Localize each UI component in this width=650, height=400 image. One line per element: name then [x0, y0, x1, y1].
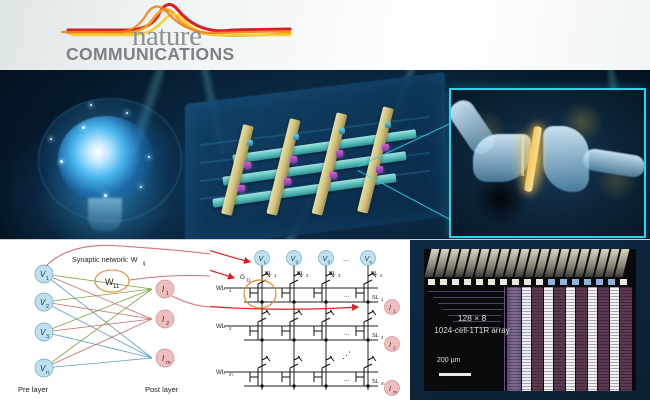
svg-text:n: n [46, 370, 49, 376]
network-caption: Synaptic network: W [72, 255, 138, 264]
svg-text:2: 2 [381, 335, 384, 340]
svg-text:1: 1 [46, 276, 49, 282]
neural-network-panel: W 11 Synaptic network: W ij V 1 V 2 V 3 … [0, 240, 210, 400]
nature-communications-logo[interactable]: nature COMMUNICATIONS [32, 2, 292, 68]
svg-text:3: 3 [46, 334, 49, 340]
svg-text:1: 1 [166, 291, 169, 297]
svg-text:2: 2 [296, 260, 299, 266]
output-arrow-1 [210, 306, 358, 309]
post-node-m: I m [156, 349, 174, 367]
wl-label-2: WL [216, 323, 226, 330]
svg-text:3: 3 [338, 273, 341, 278]
crossbar-i-node-2: I 2 [385, 337, 400, 352]
feedback-curve-out [172, 296, 210, 307]
chip-photo: 128 × 8 1024-cell-1T1R array 200 μm [424, 249, 636, 391]
svg-text:1: 1 [229, 288, 232, 293]
post-node-2: I 2 [156, 310, 174, 328]
synapse-inset [449, 88, 646, 238]
g11-highlight-circle [244, 280, 276, 308]
pre-node-3: V 3 [35, 323, 53, 341]
svg-text:m: m [229, 372, 233, 377]
network-caption-sub: ij [143, 261, 145, 267]
bl-label-1: BL [265, 271, 272, 277]
brain-illustration [30, 90, 200, 230]
scale-bar-label: 200 μm [437, 357, 461, 364]
array-desc-label: 1024-cell-1T1R array [424, 326, 578, 335]
crossbar-v-node-2: V 2 [287, 251, 302, 266]
svg-text:m: m [393, 391, 397, 396]
scale-bar [439, 373, 471, 376]
conductance-sub: 11 [246, 278, 251, 283]
conductance-label: G [240, 274, 245, 281]
input-arrow-2 [210, 268, 234, 278]
svg-text:1: 1 [274, 273, 277, 278]
svg-text:1: 1 [393, 309, 396, 315]
svg-text:2: 2 [166, 321, 169, 327]
pre-layer-label: Pre layer [18, 385, 49, 394]
post-node-1: I 1 [156, 280, 174, 298]
journal-cover-figure: nature COMMUNICATIONS [0, 0, 650, 400]
bl-label-n: BL [371, 271, 378, 277]
svg-text:I: I [389, 386, 391, 393]
bl-label-3: BL [329, 271, 336, 277]
weight-sub: 11 [113, 284, 120, 290]
svg-text:n: n [370, 261, 373, 266]
svg-text:m: m [381, 381, 385, 386]
wl-label-m: WL [216, 369, 226, 376]
bl-label-2: BL [297, 271, 304, 277]
row-ellipsis-2: ... [344, 330, 350, 337]
svg-text:I: I [389, 342, 391, 349]
pre-node-1: V 1 [35, 265, 53, 283]
sl-label-2: SL [372, 333, 379, 339]
crossbar-circuit-panel: G 11 V 1 V 2 V 3 V n ... BL [210, 240, 410, 400]
crossbar-v-node-1: V 1 [255, 251, 270, 266]
feedback-curve-mid [130, 276, 210, 281]
crossbar-v-node-3: V 3 [319, 251, 334, 266]
post-layer-label: Post layer [145, 385, 179, 394]
neural-network-diagram: W 11 Synaptic network: W ij V 1 V 2 V 3 … [0, 240, 210, 400]
crossbar-v-node-n: V n [361, 251, 376, 266]
hero-image: Face Classification using Electronic Syn… [0, 70, 650, 240]
svg-text:n: n [380, 273, 383, 278]
crossbar-circuit-diagram: G 11 V 1 V 2 V 3 V n ... BL [210, 240, 410, 400]
svg-text:I: I [389, 305, 391, 312]
svg-text:2: 2 [46, 304, 49, 310]
array-size-label: 128 × 8 [424, 313, 578, 323]
journal-header: nature COMMUNICATIONS [0, 0, 650, 70]
svg-text:m: m [166, 360, 171, 366]
svg-text:2: 2 [229, 326, 232, 331]
column-ellipsis: ... [343, 256, 349, 263]
chip-micrograph-panel: 128 × 8 1024-cell-1T1R array 200 μm [410, 240, 650, 400]
svg-text:2: 2 [393, 346, 396, 352]
svg-text:3: 3 [328, 260, 331, 266]
pre-node-2: V 2 [35, 293, 53, 311]
svg-text:1: 1 [381, 297, 384, 302]
svg-text:1: 1 [264, 260, 267, 266]
crossbar-i-node-1: I 1 [385, 300, 400, 315]
wl-label-1: WL [216, 285, 226, 292]
figure-panels: W 11 Synaptic network: W ij V 1 V 2 V 3 … [0, 240, 650, 400]
input-arrow-1 [210, 248, 250, 262]
row-ellipsis-1: ... [344, 292, 350, 299]
logo-communications-text: COMMUNICATIONS [66, 46, 235, 64]
svg-text:2: 2 [306, 273, 309, 278]
diagonal-ellipsis: ⋰ [342, 350, 351, 360]
row-ellipsis-3: ... [344, 376, 350, 383]
sl-label-1: SL [372, 295, 379, 301]
pre-node-n: V n [35, 359, 53, 377]
crossbar-i-node-m: I m [385, 381, 400, 396]
sl-label-m: SL [372, 379, 379, 385]
